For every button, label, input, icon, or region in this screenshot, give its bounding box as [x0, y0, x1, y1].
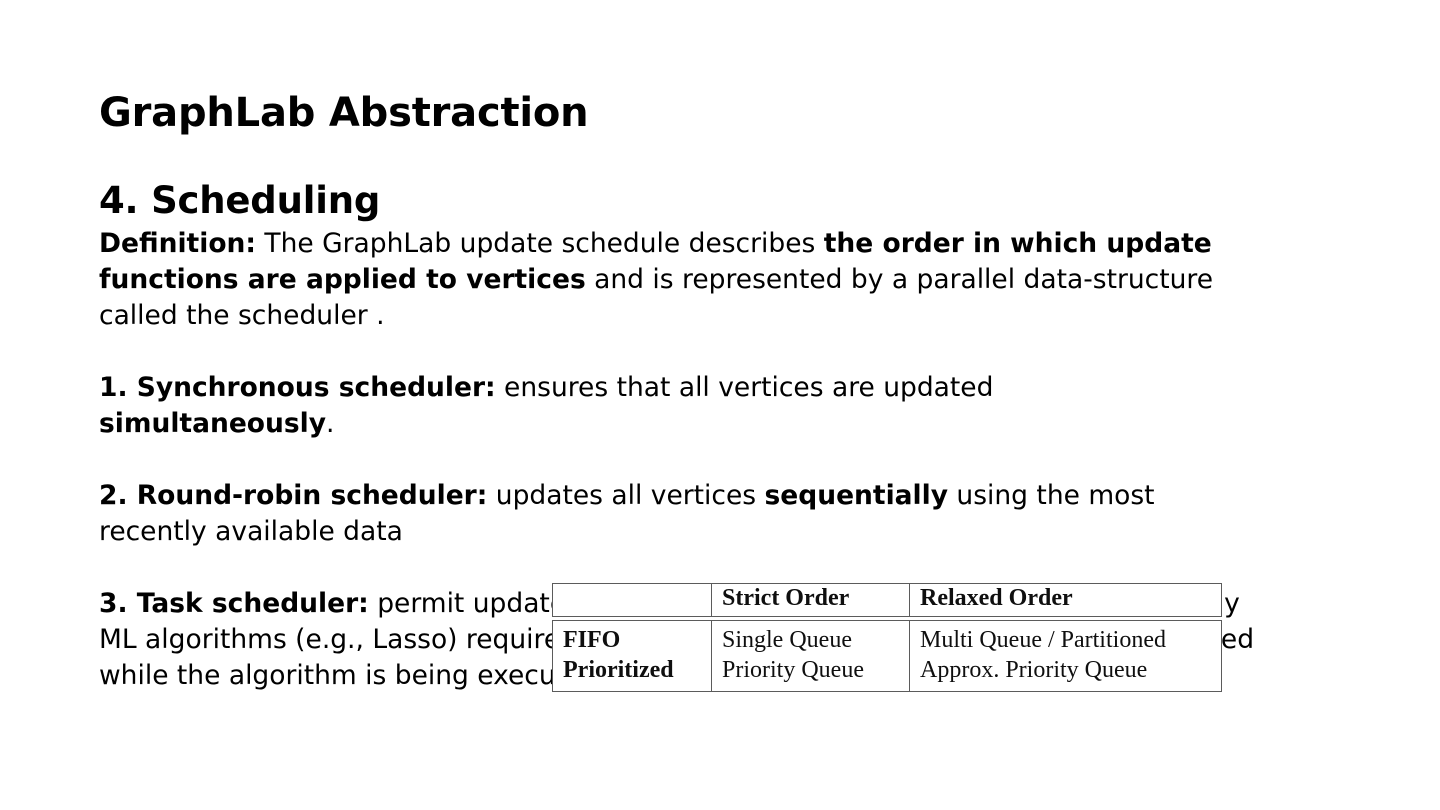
- item-1-text-1: ensures that all vertices are updated: [496, 372, 994, 403]
- table-header-strict-order: Strict Order: [711, 584, 909, 616]
- table-cell-fifo-relaxed: Multi Queue / Partitioned: [920, 625, 1221, 655]
- slide-canvas: GraphLab Abstraction 4. Scheduling Defin…: [0, 0, 1440, 810]
- item-2-emphasis-1: sequentially: [765, 480, 949, 511]
- definition-label: Definition:: [99, 228, 256, 259]
- scheduler-item-round-robin: 2. Round-robin scheduler: updates all ve…: [99, 478, 1239, 550]
- table-cells-strict-order: Single Queue Priority Queue: [711, 621, 909, 691]
- table-cell-prioritized-relaxed: Approx. Priority Queue: [920, 655, 1221, 685]
- item-3-label: 3. Task scheduler:: [99, 588, 369, 619]
- item-1-text-2: .: [326, 408, 334, 439]
- table-header-corner: [553, 584, 711, 616]
- table-cell-fifo-strict: Single Queue: [722, 625, 909, 655]
- definition-paragraph: Definition: The GraphLab update schedule…: [99, 226, 1229, 334]
- table-row-labels: FIFO Prioritized: [553, 621, 711, 691]
- section-heading: 4. Scheduling: [99, 181, 380, 222]
- table-body-rowgroup: FIFO Prioritized Single Queue Priority Q…: [552, 620, 1222, 692]
- table-cells-relaxed-order: Multi Queue / Partitioned Approx. Priori…: [909, 621, 1221, 691]
- item-2-label: 2. Round-robin scheduler:: [99, 480, 487, 511]
- table-cell-prioritized-strict: Priority Queue: [722, 655, 909, 685]
- table-row: FIFO Prioritized Single Queue Priority Q…: [553, 621, 1221, 691]
- scheduler-item-synchronous: 1. Synchronous scheduler: ensures that a…: [99, 370, 1199, 442]
- scheduler-table: Strict Order Relaxed Order FIFO Prioriti…: [552, 583, 1222, 692]
- table-header-row: Strict Order Relaxed Order: [553, 584, 1221, 616]
- page-title: GraphLab Abstraction: [99, 91, 588, 135]
- table-row-label-prioritized: Prioritized: [563, 655, 711, 685]
- table-header-rowgroup: Strict Order Relaxed Order: [552, 583, 1222, 617]
- item-1-emphasis-1: simultaneously: [99, 408, 326, 439]
- table-header-relaxed-order: Relaxed Order: [909, 584, 1221, 616]
- item-2-text-1: updates all vertices: [487, 480, 764, 511]
- item-1-label: 1. Synchronous scheduler:: [99, 372, 496, 403]
- table-row-label-fifo: FIFO: [563, 625, 711, 655]
- definition-text-1: The GraphLab update schedule describes: [256, 228, 824, 259]
